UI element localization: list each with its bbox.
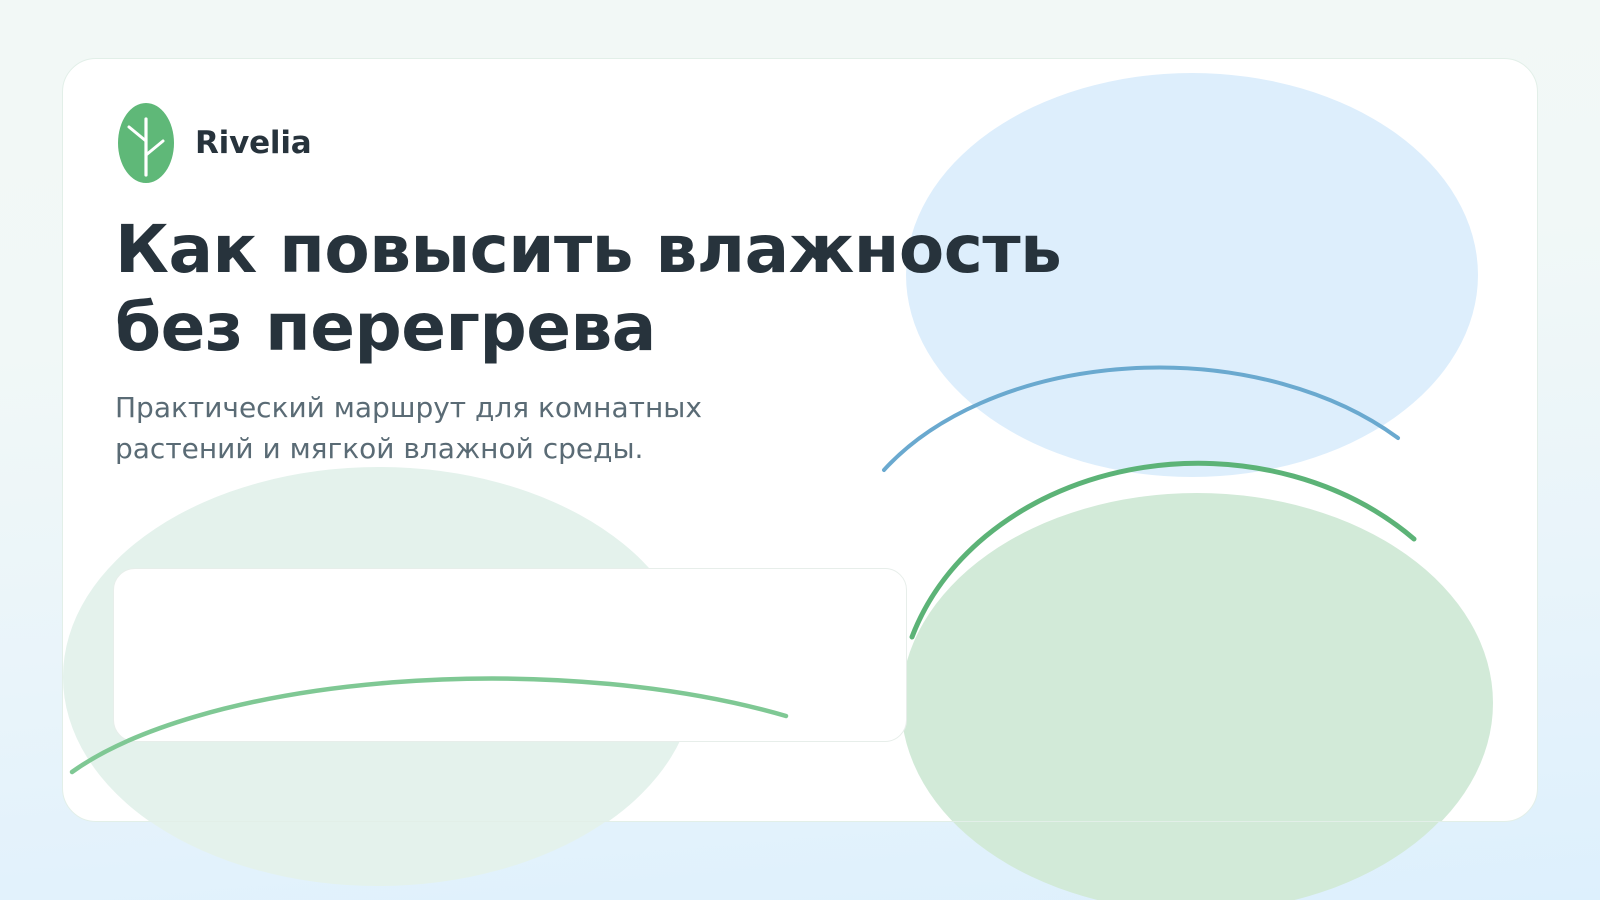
tree-leaf-icon	[115, 101, 177, 185]
brand-name: Rivelia	[195, 125, 312, 161]
page-title: Как повысить влажность без перегрева	[115, 211, 1235, 367]
page-subtitle: Практический маршрут для комнатных расте…	[115, 387, 815, 470]
hero-card: Rivelia Как повысить влажность без перег…	[62, 58, 1538, 822]
card-blob-green-right	[901, 493, 1493, 822]
brand-lockup[interactable]: Rivelia	[115, 101, 312, 185]
slide-canvas: Rivelia Как повысить влажность без перег…	[0, 0, 1600, 900]
content-panel[interactable]	[113, 568, 907, 742]
